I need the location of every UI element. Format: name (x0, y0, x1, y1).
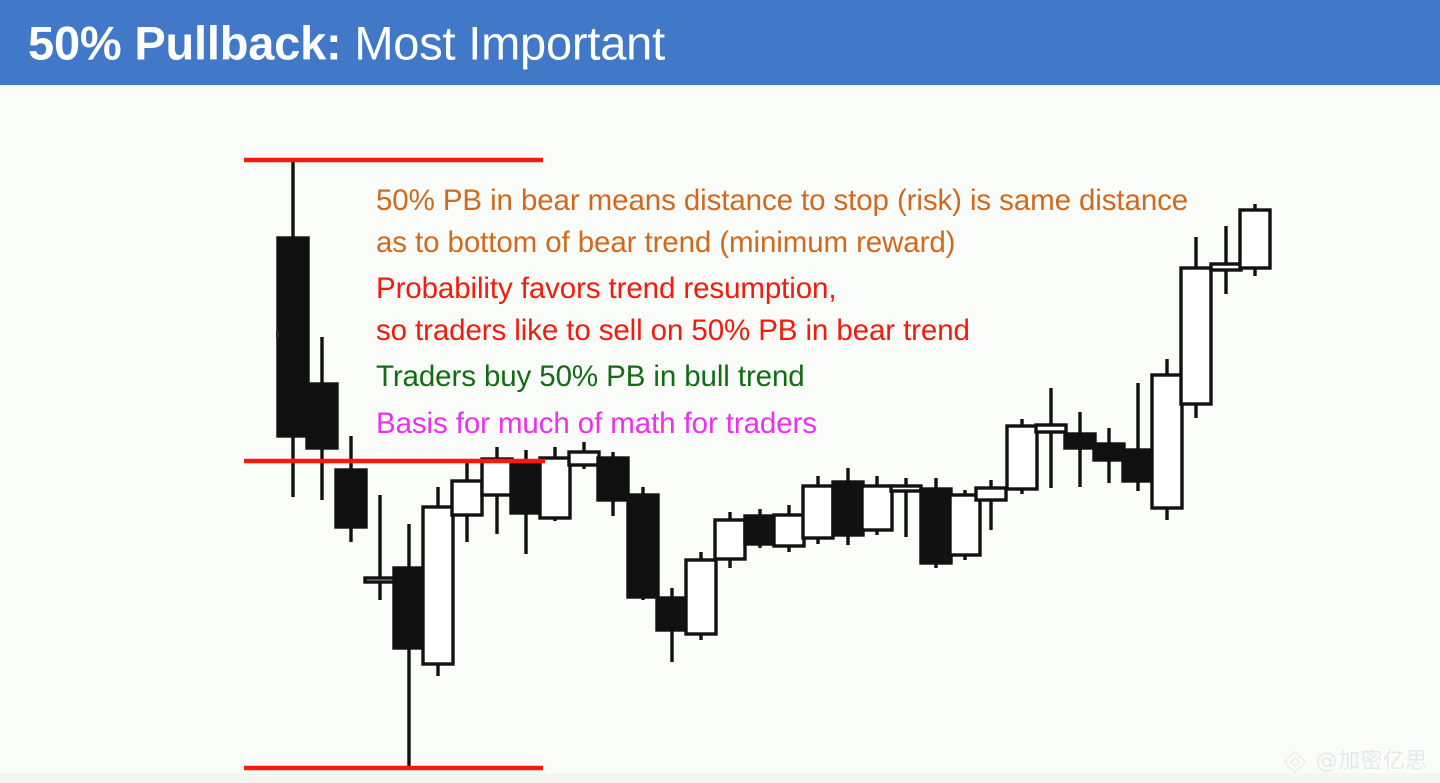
candle-8-bear (511, 450, 541, 554)
binance-diamond-logo-icon (1282, 749, 1308, 775)
candles-group (278, 160, 1270, 768)
candle-body (540, 458, 570, 518)
candle-body (628, 495, 658, 597)
candle-body (833, 482, 863, 535)
watermark: @加密亿思 (1282, 749, 1428, 775)
candle-22-bear (921, 478, 951, 568)
candle-10-bull (569, 442, 599, 469)
candle-body (1094, 444, 1124, 460)
candle-body (336, 470, 366, 527)
candle-body (394, 568, 424, 648)
candle-body (774, 515, 804, 546)
candle-14-bull (686, 552, 716, 640)
candle-body (745, 516, 775, 544)
candle-0-bear (278, 160, 308, 497)
candle-body (423, 507, 453, 664)
candle-body (976, 488, 1006, 500)
candle-body (569, 452, 599, 465)
candle-body (950, 495, 980, 555)
candle-body (657, 598, 687, 630)
candle-body (715, 520, 745, 559)
candle-body (482, 459, 512, 495)
candle-29-bear (1123, 383, 1153, 491)
candle-21-bull (891, 478, 921, 537)
candle-body (452, 481, 482, 515)
candle-body (511, 462, 541, 513)
candle-body (1123, 450, 1153, 481)
candle-body (1152, 375, 1182, 508)
header-banner: 50% Pullback: Most Important (0, 0, 1440, 85)
watermark-handle: @加密亿思 (1315, 751, 1428, 773)
candle-6-bull (452, 463, 482, 542)
candle-body (1181, 268, 1211, 404)
candle-body (1211, 264, 1241, 270)
candle-4-bear (394, 524, 424, 768)
candle-18-bull (803, 476, 833, 544)
candle-19-bear (833, 468, 863, 545)
candle-3-bull (365, 495, 395, 600)
candle-20-bull (862, 476, 892, 535)
candlestick-chart-svg (0, 89, 1440, 783)
candle-9-bull (540, 447, 570, 521)
candle-1-bear (307, 337, 337, 500)
candle-body (365, 578, 395, 582)
candle-2-bear (336, 436, 366, 542)
candle-body (278, 238, 308, 436)
candle-body (862, 486, 892, 530)
candlestick-chart (0, 89, 1440, 783)
candle-27-bear (1065, 412, 1095, 487)
candle-30-bull (1152, 359, 1182, 520)
candle-body (1240, 210, 1270, 268)
slide-root: 50% Pullback: Most Important 50% PB in b… (0, 0, 1440, 783)
candle-13-bear (657, 588, 687, 662)
candle-26-bull (1036, 388, 1066, 488)
candle-body (1007, 426, 1037, 489)
candle-25-bull (1007, 419, 1037, 494)
candle-32-bull (1211, 226, 1241, 294)
candle-body (891, 486, 921, 491)
page-title-bold: 50% Pullback: (28, 16, 341, 69)
candle-11-bear (598, 452, 628, 516)
candle-body (686, 560, 716, 634)
page-title-regular: Most Important (341, 16, 665, 69)
candle-17-bull (774, 505, 804, 552)
candle-body (921, 489, 951, 563)
candle-12-bear (628, 487, 658, 600)
candle-body (307, 384, 337, 448)
candle-body (803, 486, 833, 538)
candle-16-bear (745, 509, 775, 548)
bottom-fade-strip (0, 773, 1440, 783)
candle-15-bull (715, 512, 745, 568)
candle-31-bull (1181, 237, 1211, 418)
candle-body (1036, 425, 1066, 432)
candle-33-bull (1240, 204, 1270, 276)
candle-5-bull (423, 487, 453, 676)
speck-artifact (276, 331, 279, 338)
candle-body (598, 458, 628, 500)
candle-28-bear (1094, 428, 1124, 483)
page-title: 50% Pullback: Most Important (28, 19, 665, 66)
candle-body (1065, 434, 1095, 448)
